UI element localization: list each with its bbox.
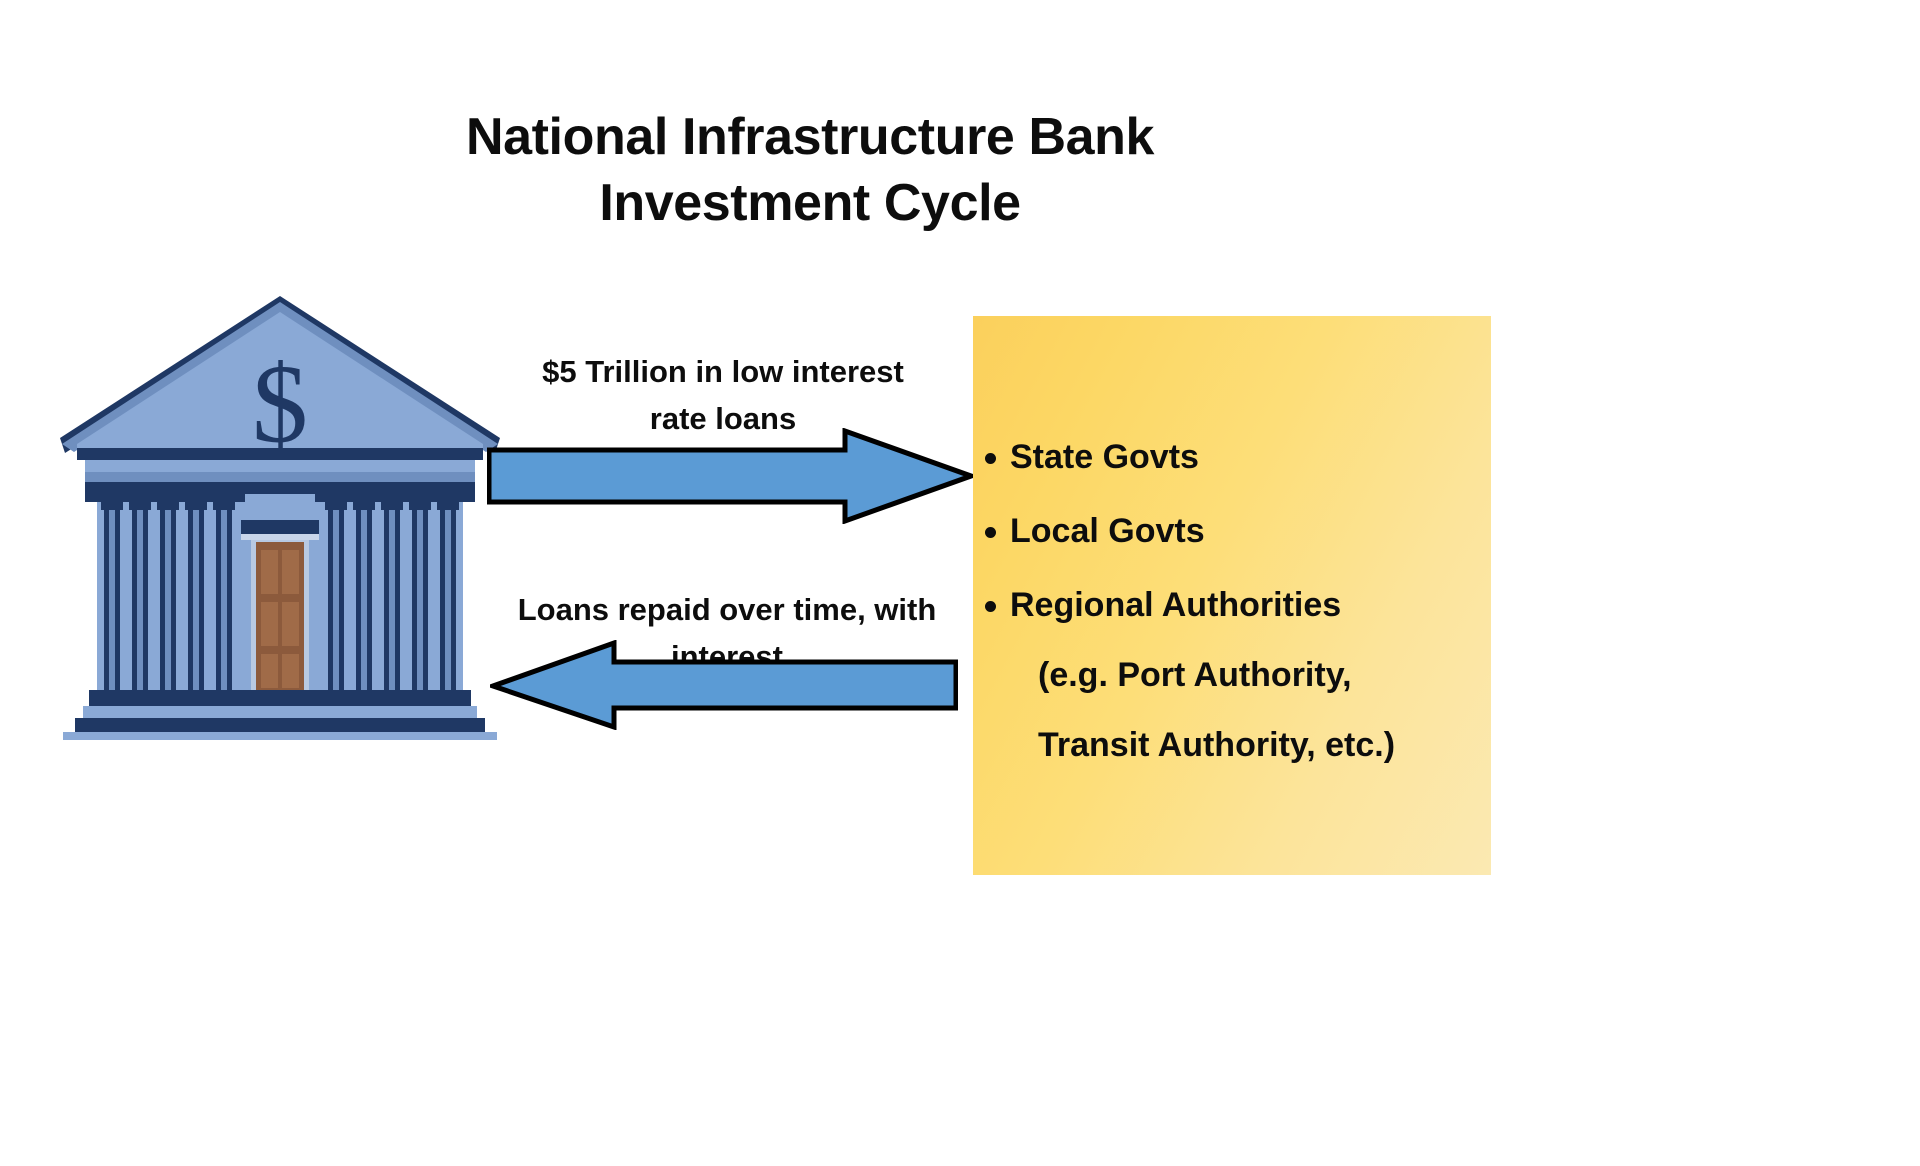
list-item: State Govts xyxy=(973,435,1491,479)
diagram-canvas: National Infrastructure Bank Investment … xyxy=(0,0,1920,1166)
inflow-arrow-left xyxy=(490,640,958,730)
bank-building-icon: $ xyxy=(55,288,505,740)
inflow-label-line-1: Loans repaid over time, with xyxy=(492,586,962,633)
title-line-1: National Infrastructure Bank xyxy=(0,104,1620,170)
bullet-icon xyxy=(985,527,996,538)
svg-text:$: $ xyxy=(252,343,308,467)
recipients-list: State Govts Local Govts Regional Authori… xyxy=(973,316,1491,797)
recipient-label: Local Govts xyxy=(1010,512,1205,550)
bullet-icon xyxy=(985,453,996,464)
recipient-label: Regional Authorities xyxy=(1010,586,1341,624)
page-title: National Infrastructure Bank Investment … xyxy=(0,104,1620,236)
outflow-label-line-1: $5 Trillion in low interest xyxy=(488,348,958,395)
recipient-label: State Govts xyxy=(1010,438,1199,476)
bullet-icon xyxy=(985,601,996,612)
dollar-sign: $ xyxy=(252,343,308,467)
outflow-arrow-right xyxy=(487,428,973,524)
recipients-panel: State Govts Local Govts Regional Authori… xyxy=(973,316,1491,875)
list-item: Regional Authorities (e.g. Port Authorit… xyxy=(973,583,1491,767)
list-item: Local Govts xyxy=(973,509,1491,553)
recipient-sub-line-1: (e.g. Port Authority, xyxy=(1010,653,1491,697)
title-line-2: Investment Cycle xyxy=(0,170,1620,236)
recipient-sub-line-2: Transit Authority, etc.) xyxy=(1010,723,1491,767)
